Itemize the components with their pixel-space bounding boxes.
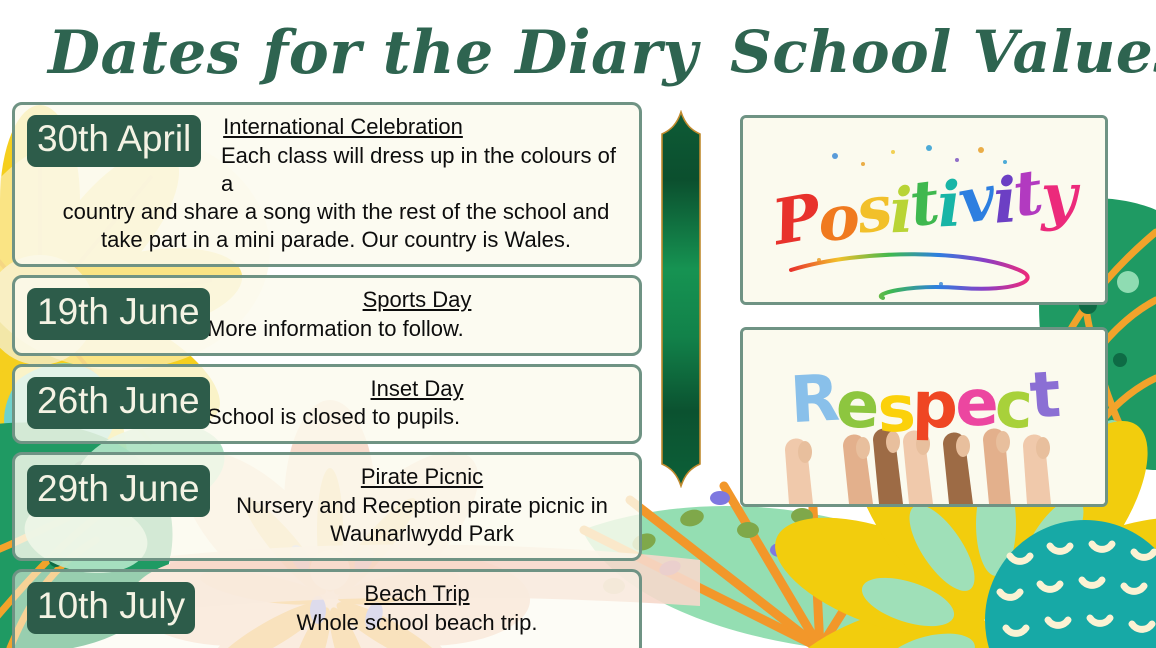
page-title-dates: Dates for the Diary <box>48 18 698 88</box>
dates-list: 30th April International Celebration Eac… <box>12 102 642 648</box>
cutout-letter: R <box>788 361 838 437</box>
date-badge: 19th June <box>27 288 210 340</box>
event-desc-line: School is closed to pupils. <box>207 403 627 431</box>
respect-word: Respect <box>790 363 1058 437</box>
event-desc-line: Whole school beach trip. <box>207 609 627 637</box>
cutout-letter: s <box>876 372 914 447</box>
value-image-respect: Respect <box>740 327 1108 507</box>
event-desc-line: Nursery and Reception pirate picnic in <box>217 492 627 520</box>
page-title-values: School Values <box>730 18 1156 86</box>
cutout-letter: c <box>994 368 1031 443</box>
date-card: 30th April International Celebration Eac… <box>12 102 642 267</box>
event-desc-line: More information to follow. <box>207 315 627 343</box>
event-title: Pirate Picnic <box>217 463 627 491</box>
ribbon-divider-icon <box>660 110 702 488</box>
date-card: 10th July Beach Trip Whole school beach … <box>12 569 642 648</box>
event-title: Inset Day <box>207 375 627 403</box>
cutout-letter: p <box>911 368 955 443</box>
event-title: Sports Day <box>207 286 627 314</box>
date-badge: 29th June <box>27 465 210 517</box>
date-badge: 26th June <box>27 377 210 429</box>
event-title: Beach Trip <box>207 580 627 608</box>
cutout-letter: e <box>954 366 996 441</box>
date-card: 19th June Sports Day More information to… <box>12 275 642 356</box>
date-badge: 10th July <box>27 582 195 634</box>
date-card: 26th June Inset Day School is closed to … <box>12 364 642 445</box>
date-card: 29th June Pirate Picnic Nursery and Rece… <box>12 452 642 561</box>
slide-canvas: Dates for the Diary School Values 30th A… <box>0 0 1156 648</box>
event-desc-line: Waunarlwydd Park <box>217 520 627 548</box>
event-desc-line: country and share a song with the rest o… <box>45 198 627 226</box>
cutout-letter: t <box>1027 358 1060 434</box>
teal-pineapple-disc <box>985 520 1156 648</box>
event-desc-line: take part in a mini parade. Our country … <box>45 226 627 254</box>
cutout-letter: e <box>835 368 878 443</box>
value-image-positivity: Positivity <box>740 115 1108 305</box>
date-badge: 30th April <box>27 115 201 167</box>
brush-letter: y <box>1040 159 1075 233</box>
